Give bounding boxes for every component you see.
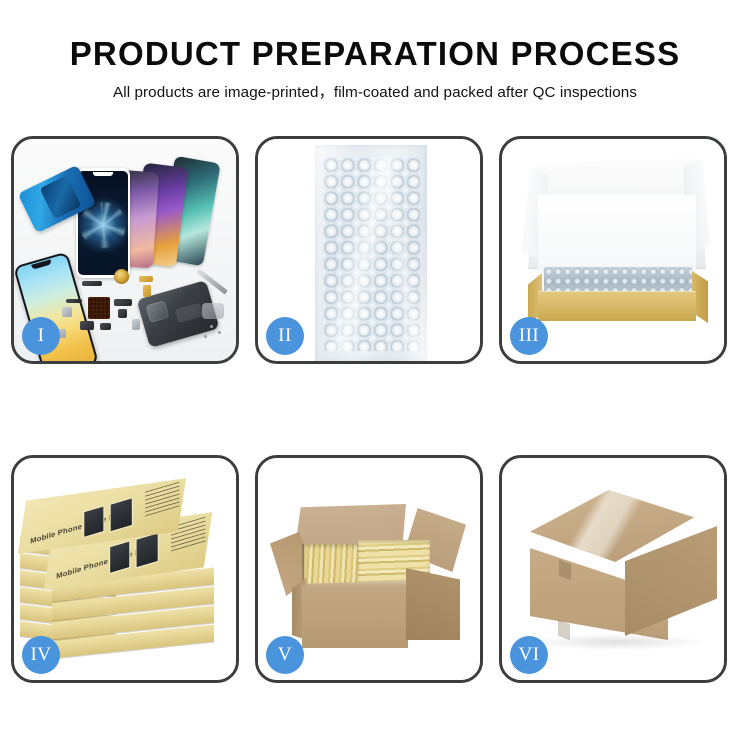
step-badge-4: IV xyxy=(22,636,60,674)
retail-box-screen-image xyxy=(109,540,130,574)
screw-part xyxy=(210,325,213,328)
step-panel-1: I xyxy=(11,136,239,364)
sim-tray-part xyxy=(132,319,140,330)
bubble-wrap-sheet xyxy=(315,145,427,361)
header: PRODUCT PREPARATION PROCESS All products… xyxy=(0,34,750,104)
carton-right-face xyxy=(406,568,460,640)
step-badge-2: II xyxy=(266,317,304,355)
step-badge-6: VI xyxy=(510,636,548,674)
page-title: PRODUCT PREPARATION PROCESS xyxy=(0,34,750,74)
mailer-box-interior xyxy=(538,195,696,273)
tweezers-tool xyxy=(202,303,224,319)
retail-box-screen-image xyxy=(110,497,133,533)
bubble-wrap-bubbles xyxy=(323,157,420,351)
charging-port-part xyxy=(100,323,111,330)
screw-part xyxy=(204,335,207,338)
earpiece-part xyxy=(114,299,132,306)
speaker-coil-part xyxy=(114,269,129,284)
vibrator-part xyxy=(66,299,82,303)
steps-grid: I II xyxy=(11,136,739,683)
retail-box-spec-lines xyxy=(145,482,179,517)
camera-module-part xyxy=(62,307,72,317)
step-badge-1: I xyxy=(22,317,60,355)
step-panel-2: II xyxy=(255,136,483,364)
taptic-engine-part xyxy=(80,321,94,330)
step-badge-3: III xyxy=(510,317,548,355)
carton-drop-shadow xyxy=(532,634,704,650)
screw-part xyxy=(218,331,221,334)
page-subtitle: All products are image-printed，film-coat… xyxy=(0,82,750,104)
retail-box-screen-image xyxy=(136,532,159,569)
product-preparation-infographic: PRODUCT PREPARATION PROCESS All products… xyxy=(0,0,750,750)
mailer-box-front xyxy=(538,291,696,321)
step-panel-6: VI xyxy=(499,455,727,683)
flex-connector-part xyxy=(139,276,153,282)
step-badge-5: V xyxy=(266,636,304,674)
carton-front-face xyxy=(302,586,408,648)
button-part xyxy=(118,309,127,318)
step-panel-3: III xyxy=(499,136,727,364)
logic-board-part xyxy=(88,297,110,319)
step-panel-4: Mobile Phone Spare Parts Mobile Phone Sp… xyxy=(11,455,239,683)
flex-cable-part xyxy=(143,285,151,297)
antenna-strip-part xyxy=(82,281,102,286)
step-panel-5: V xyxy=(255,455,483,683)
retail-box-screen-image xyxy=(83,505,104,538)
